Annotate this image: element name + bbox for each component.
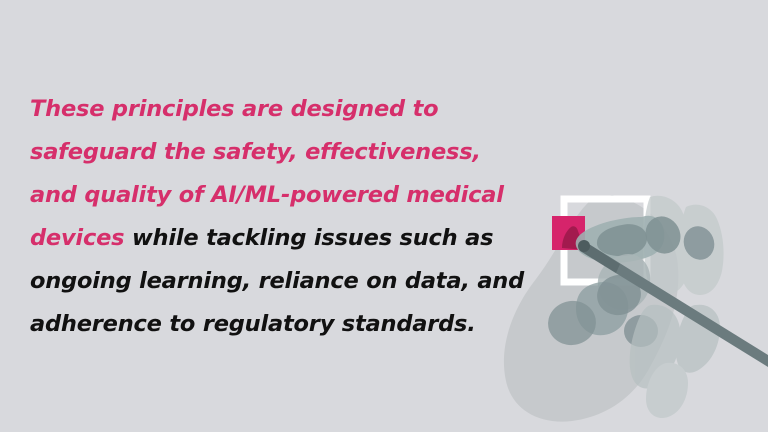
- robotic-hand-stylus-illustration: [500, 155, 768, 432]
- slide-canvas: These principles are designed to safegua…: [0, 0, 768, 432]
- quote-text-block: These principles are designed to safegua…: [30, 88, 530, 346]
